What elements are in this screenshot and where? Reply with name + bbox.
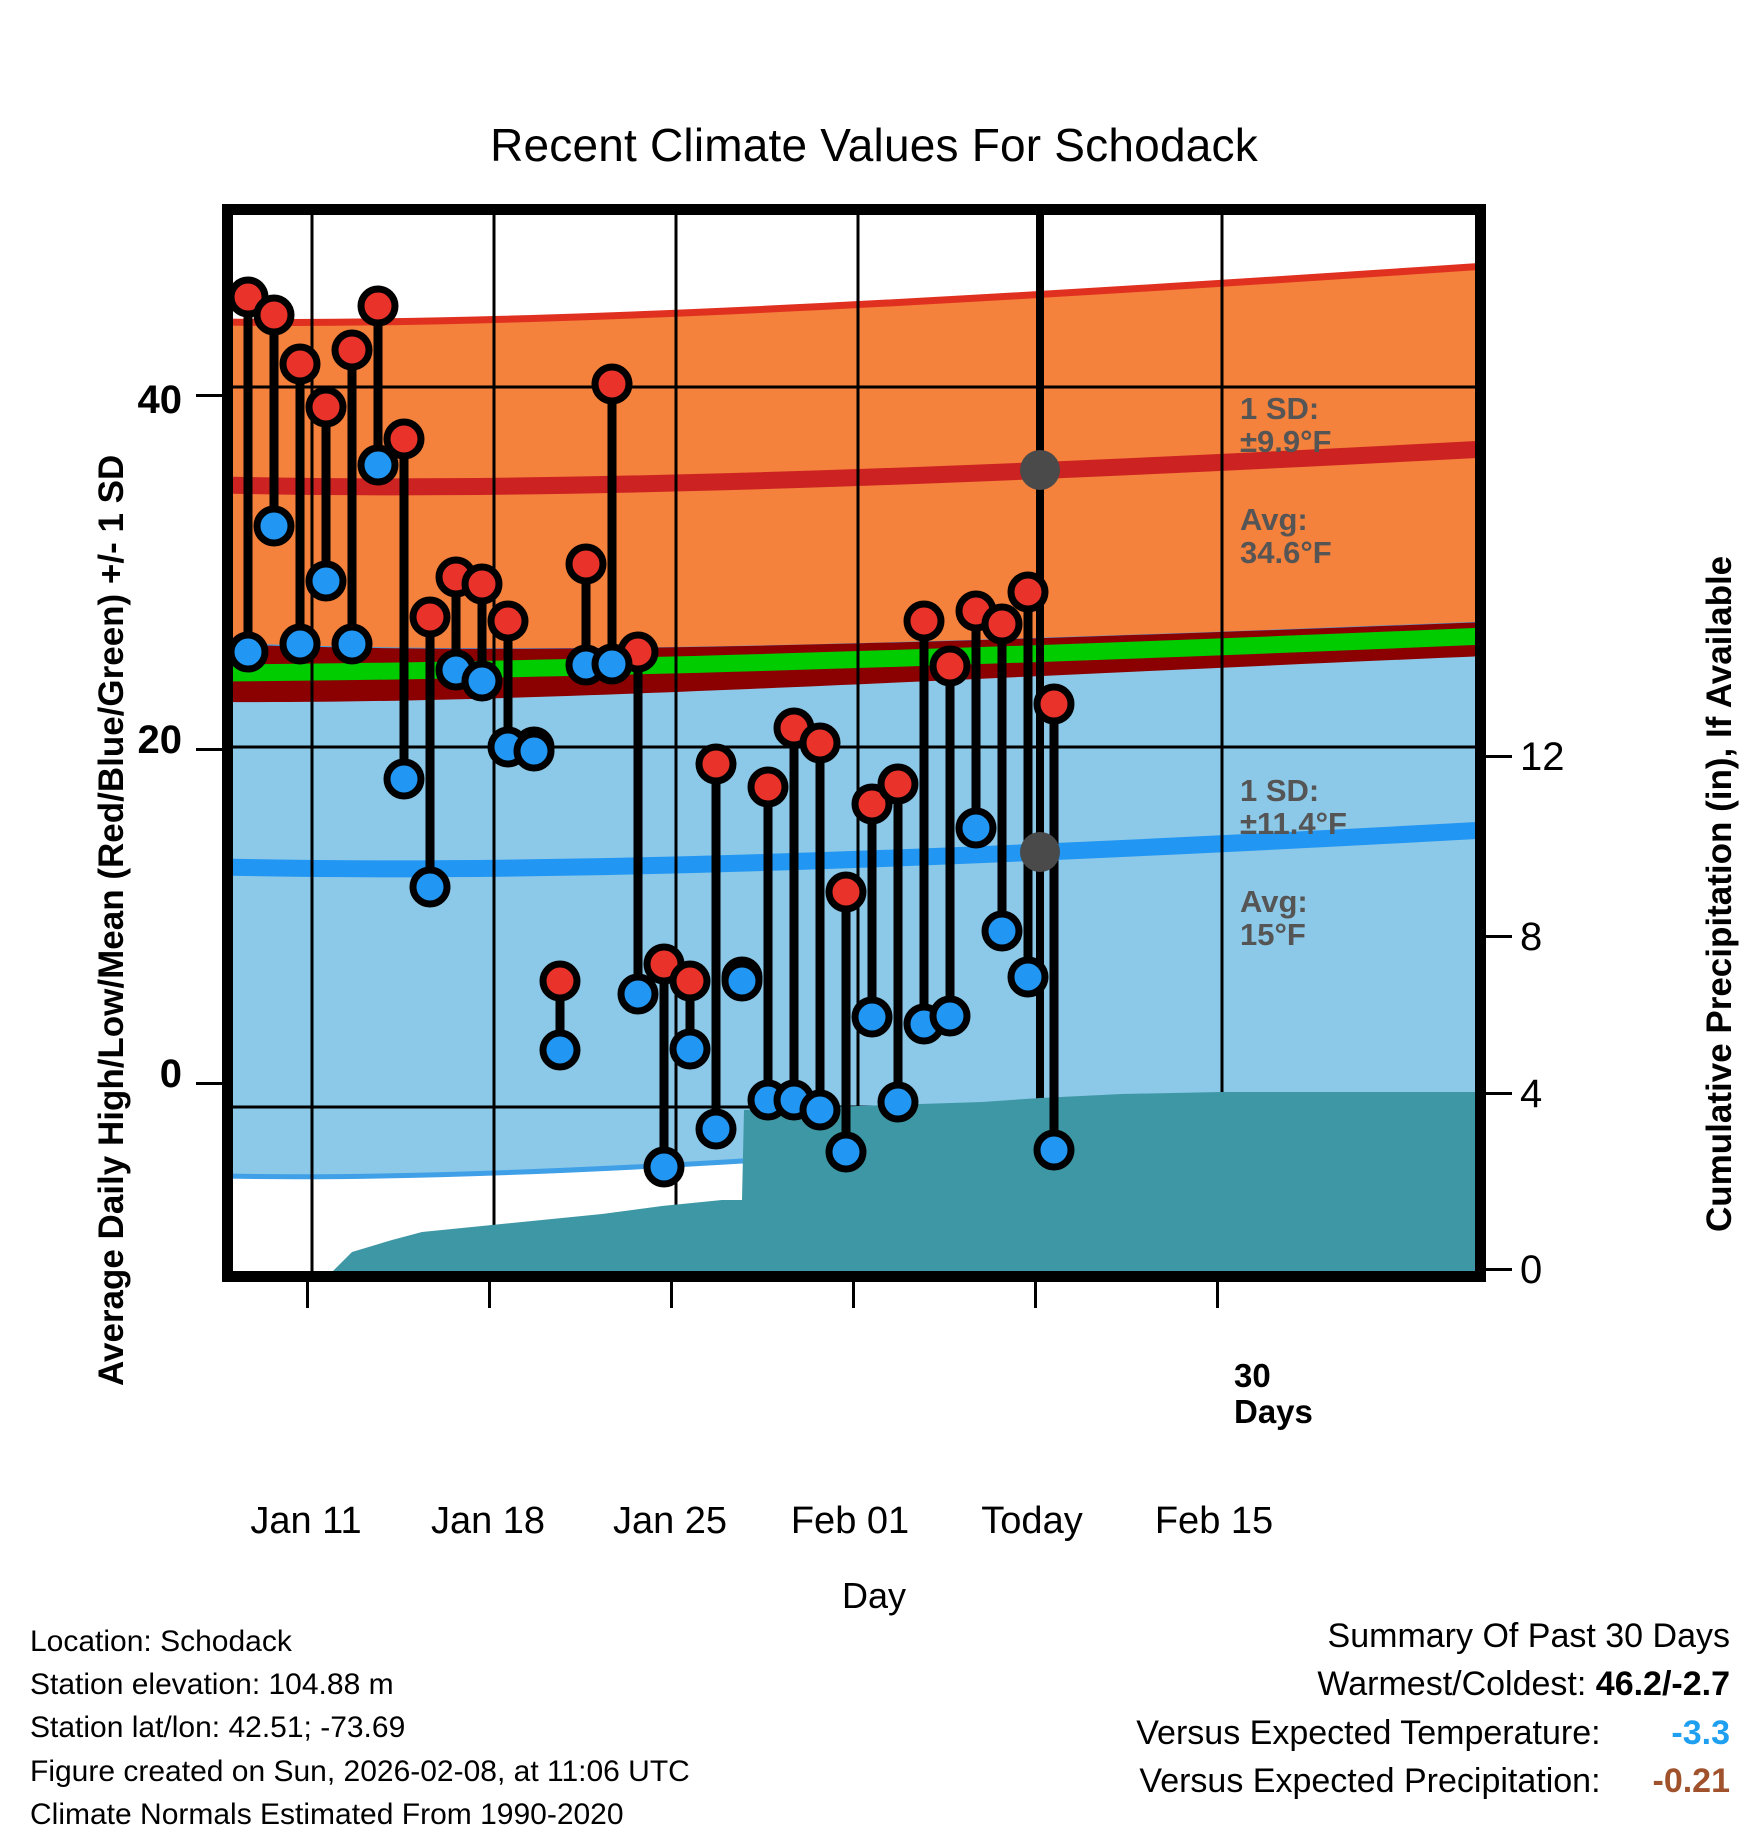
y-right-tick-12: 12: [1520, 735, 1630, 780]
high-sd-annotation: 1 SD: ±9.9°F: [1240, 392, 1331, 459]
summary-row-vs-precipitation: Versus Expected Precipitation: -0.21: [1136, 1757, 1730, 1805]
summary-label-vs-precipitation: Versus Expected Precipitation:: [1139, 1762, 1600, 1800]
y-tick-20: 20: [72, 718, 182, 763]
plot-frame: [222, 204, 1486, 1282]
tick-yr8: [1486, 935, 1512, 938]
x-axis-label: Day: [0, 1575, 1748, 1617]
summary-panel: Summary Of Past 30 Days Warmest/Coldest:…: [1136, 1612, 1730, 1805]
high-avg-annotation: Avg: 34.6°F: [1240, 503, 1332, 570]
tick-x-feb15: [1216, 1282, 1219, 1308]
figure-root: Recent Climate Values For Schodack Avera…: [0, 0, 1748, 1828]
y-axis-left-label: Average Daily High/Low/Mean (Red/Blue/Gr…: [92, 455, 132, 1386]
y-right-tick-0: 0: [1520, 1248, 1630, 1293]
y-tick-0: 0: [72, 1052, 182, 1097]
summary-heading: Summary Of Past 30 Days: [1136, 1612, 1730, 1660]
tick-yr4: [1486, 1092, 1512, 1095]
chart-title: Recent Climate Values For Schodack: [0, 118, 1748, 172]
summary-value-vs-precipitation: -0.21: [1610, 1757, 1730, 1805]
tick-y40: [196, 394, 222, 397]
summary-row-vs-temperature: Versus Expected Temperature: -3.3: [1136, 1709, 1730, 1757]
low-sd-annotation: 1 SD: ±11.4°F: [1240, 774, 1347, 841]
tick-x-today: [1034, 1282, 1037, 1308]
summary-row-warmest-coldest: Warmest/Coldest: 46.2/-2.7: [1136, 1660, 1730, 1708]
tick-x-jan11: [306, 1282, 309, 1308]
tick-yr12: [1486, 755, 1512, 758]
tick-x-jan18: [488, 1282, 491, 1308]
low-avg-annotation: Avg: 15°F: [1240, 885, 1308, 952]
precip-days-annotation: 30 Days: [1234, 1358, 1313, 1429]
y-right-tick-8: 8: [1520, 915, 1630, 960]
tick-yr0: [1486, 1268, 1512, 1271]
summary-label-warmest-coldest: Warmest/Coldest:: [1317, 1665, 1586, 1703]
plot-area: [222, 204, 1486, 1282]
tick-x-jan25: [670, 1282, 673, 1308]
y-axis-right-label: Cumulative Precipitation (in), If Availa…: [1700, 556, 1740, 1232]
tick-x-feb01: [852, 1282, 855, 1308]
footer-metadata: Location: Schodack Station elevation: 10…: [30, 1620, 690, 1836]
tick-y0: [196, 1082, 222, 1085]
summary-value-warmest-coldest: 46.2/-2.7: [1596, 1660, 1730, 1708]
summary-value-vs-temperature: -3.3: [1610, 1709, 1730, 1757]
summary-label-vs-temperature: Versus Expected Temperature:: [1136, 1714, 1600, 1752]
x-tick-feb-15: Feb 15: [1104, 1500, 1324, 1543]
y-right-tick-4: 4: [1520, 1072, 1630, 1117]
y-tick-40: 40: [72, 378, 182, 423]
tick-y20: [196, 748, 222, 751]
